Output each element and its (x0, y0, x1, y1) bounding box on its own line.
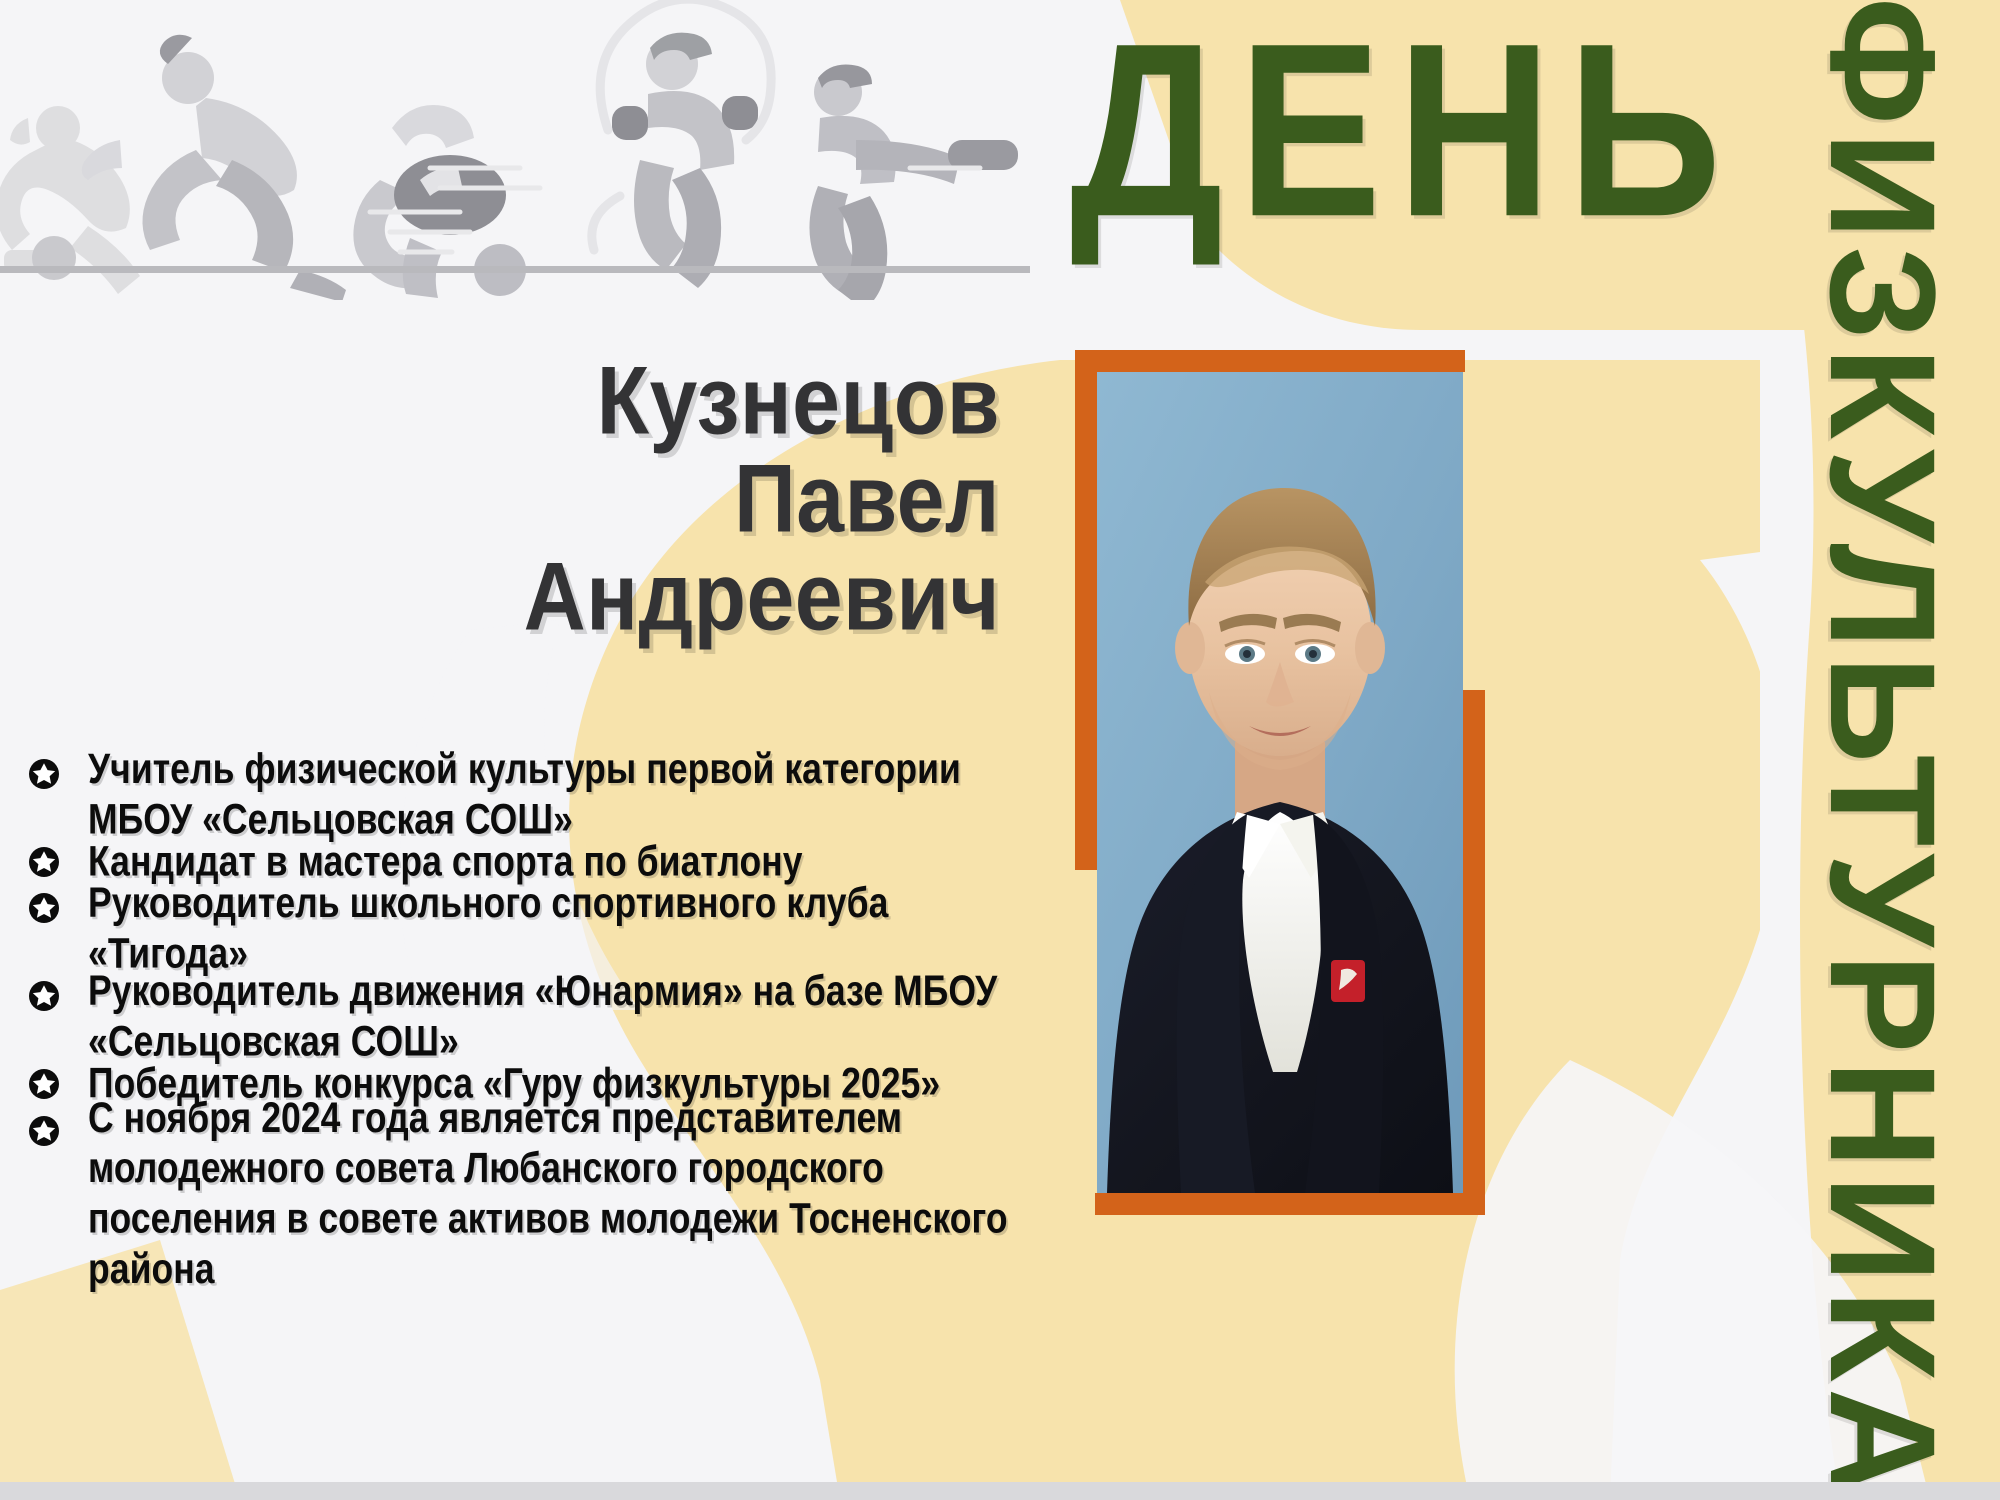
list-item-label: Руководитель движения «Юнармия» на базе … (88, 966, 1016, 1067)
vertical-title-container: ФИЗКУЛЬТУРНИКА (1758, 0, 2000, 1500)
list-item-label: С ноября 2024 года является представител… (88, 1092, 1016, 1294)
frame-bar-right (1463, 690, 1485, 1215)
star-circle-icon (28, 1115, 60, 1147)
list-item-label: Руководитель школьного спортивного клуба… (88, 878, 1016, 979)
list-item: С ноября 2024 года является представител… (16, 1109, 1016, 1277)
achievements-list: Учитель физической культуры первой катег… (16, 752, 1016, 1281)
star-circle-icon (28, 980, 60, 1012)
star-circle-icon (28, 758, 60, 790)
frame-bar-bottom (1095, 1193, 1485, 1215)
list-item: Руководитель движения «Юнармия» на базе … (16, 974, 1016, 1058)
star-circle-icon (28, 892, 60, 924)
page-title-main: ДЕНЬ (1070, 6, 1737, 253)
poster-canvas: ДЕНЬ ФИЗКУЛЬТУРНИКА Кузнецов Павел Андре… (0, 0, 2000, 1500)
list-item: Учитель физической культуры первой катег… (16, 752, 1016, 836)
list-item: Кандидат в мастера спорта по биатлону (16, 840, 1016, 882)
person-name: Кузнецов Павел Андреевич (400, 352, 1000, 646)
portrait-frame (1075, 350, 1485, 1215)
person-surname: Кузнецов (400, 346, 1000, 456)
page-title-vertical: ФИЗКУЛЬТУРНИКА (1808, 0, 1958, 1500)
list-item: Руководитель школьного спортивного клуба… (16, 886, 1016, 970)
portrait-photo (1097, 372, 1463, 1193)
star-circle-icon (28, 1068, 60, 1100)
frame-bar-left (1075, 350, 1097, 870)
bottom-strip (0, 1482, 2000, 1500)
person-patronymic: Андреевич (400, 542, 1000, 652)
list-item-label: Учитель физической культуры первой катег… (88, 744, 1016, 845)
star-circle-icon (28, 846, 60, 878)
frame-bar-top (1075, 350, 1465, 372)
person-first-name: Павел (400, 444, 1000, 554)
